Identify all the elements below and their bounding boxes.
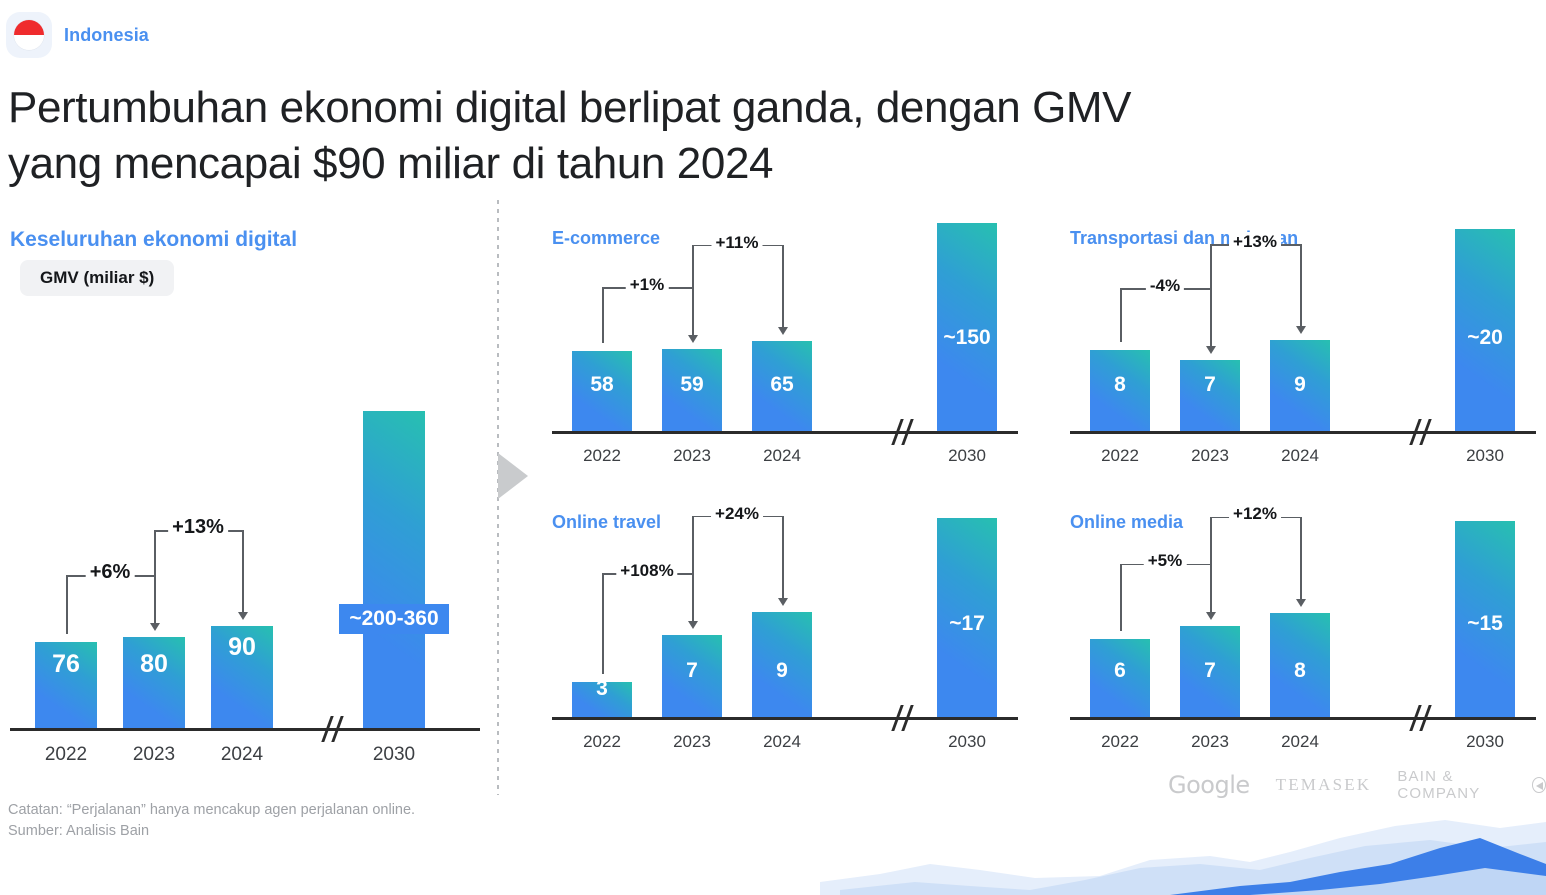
x-tick-2022: 2022 xyxy=(1070,446,1170,466)
x-axis-line xyxy=(552,717,1018,720)
temasek-logo: TEMASEK xyxy=(1276,775,1372,795)
growth-label: +13% xyxy=(168,516,228,539)
growth-annotation-ecommerce-1: +11% xyxy=(552,228,1018,431)
growth-annotation-overall-1: +13% xyxy=(10,228,480,728)
x-tick-2022: 2022 xyxy=(15,744,117,766)
logo-row: Google TEMASEK BAIN & COMPANY xyxy=(1168,768,1546,802)
footnote-source: Sumber: Analisis Bain xyxy=(8,821,415,842)
page-title: Pertumbuhan ekonomi digital berlipat gan… xyxy=(8,80,1208,193)
google-logo: Google xyxy=(1168,771,1250,799)
divider-arrow-icon xyxy=(498,453,528,499)
footnotes: Catatan: “Perjalanan” hanya mencakup age… xyxy=(8,800,415,842)
x-tick-2030: 2030 xyxy=(917,732,1017,752)
country-chip: Indonesia xyxy=(6,12,149,58)
x-tick-2030: 2030 xyxy=(917,446,1017,466)
growth-label: +11% xyxy=(711,233,762,253)
x-tick-2023: 2023 xyxy=(103,744,205,766)
x-tick-2023: 2023 xyxy=(642,446,742,466)
growth-annotation-online-travel-1: +24% xyxy=(552,512,1018,717)
x-tick-2022: 2022 xyxy=(552,446,652,466)
bain-circle-icon xyxy=(1532,777,1546,793)
x-tick-2024: 2024 xyxy=(732,732,832,752)
growth-label: +13% xyxy=(1229,232,1281,252)
indonesia-flag-icon xyxy=(6,12,52,58)
x-tick-2023: 2023 xyxy=(642,732,742,752)
x-tick-2030: 2030 xyxy=(1435,732,1535,752)
x-tick-2024: 2024 xyxy=(1250,732,1350,752)
footnote-note: Catatan: “Perjalanan” hanya mencakup age… xyxy=(8,800,415,821)
x-tick-2023: 2023 xyxy=(1160,732,1260,752)
x-tick-2030: 2030 xyxy=(1435,446,1535,466)
chart-overall: Keseluruhan ekonomi digitalGMV (miliar $… xyxy=(10,228,480,788)
chart-transport-food: Transportasi dan makanan879~202022202320… xyxy=(1070,228,1536,491)
x-tick-2024: 2024 xyxy=(732,446,832,466)
x-tick-2022: 2022 xyxy=(1070,732,1170,752)
x-axis-line xyxy=(10,728,480,731)
growth-label: +12% xyxy=(1229,504,1281,524)
growth-annotation-online-media-1: +12% xyxy=(1070,512,1536,717)
x-axis-line xyxy=(1070,717,1536,720)
infographic-root: Indonesia Pertumbuhan ekonomi digital be… xyxy=(0,0,1546,895)
bain-logo: BAIN & COMPANY xyxy=(1397,768,1546,802)
x-axis-line xyxy=(552,431,1018,434)
chart-online-travel: Online travel379~172022202320242030+108%… xyxy=(552,512,1018,777)
bain-logo-text: BAIN & COMPANY xyxy=(1397,768,1524,802)
mountain-decoration-icon xyxy=(820,812,1546,895)
chart-online-media: Online media678~152022202320242030+5%+12… xyxy=(1070,512,1536,777)
x-tick-2023: 2023 xyxy=(1160,446,1260,466)
x-tick-2022: 2022 xyxy=(552,732,652,752)
chart-ecommerce: E-commerce585965~1502022202320242030+1%+… xyxy=(552,228,1018,491)
x-tick-2024: 2024 xyxy=(191,744,293,766)
x-axis-line xyxy=(1070,431,1536,434)
x-tick-2024: 2024 xyxy=(1250,446,1350,466)
x-tick-2030: 2030 xyxy=(343,744,445,766)
growth-label: +24% xyxy=(711,504,763,524)
country-label: Indonesia xyxy=(64,25,149,46)
growth-annotation-transport-food-1: +13% xyxy=(1070,228,1536,431)
